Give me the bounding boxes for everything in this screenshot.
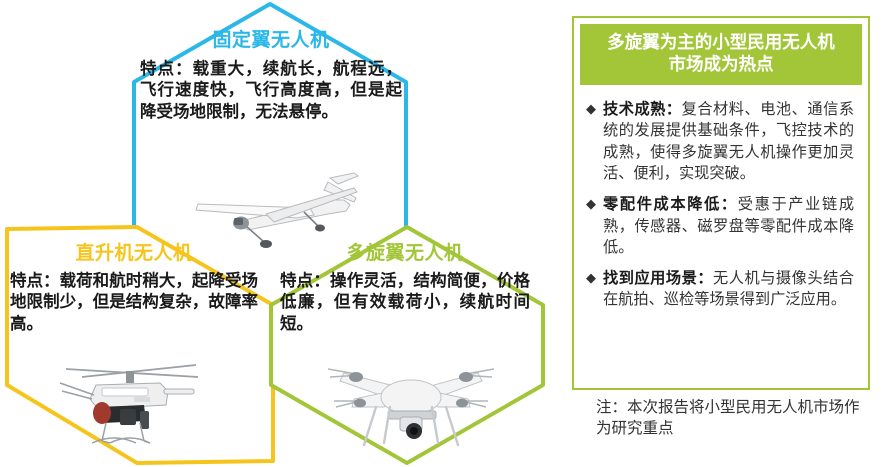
diamond-bullet-icon: ◆ xyxy=(586,194,603,213)
diamond-bullet-icon: ◆ xyxy=(586,268,603,287)
panel-header-line-1: 多旋翼为主的小型民用无人机 xyxy=(586,32,856,54)
market-highlight-panel: 多旋翼为主的小型民用无人机 市场成为热点 ◆ 技术成熟：复合材料、电池、通信系统… xyxy=(572,16,870,390)
hexagon-card-helicopter: 直升机无人机 特点：载荷和航时稍大，起降受场地限制少，但是结构复杂，故障率高。 xyxy=(10,243,258,335)
list-item: ◆ 零配件成本降低：受惠于产业链成熟，传感器、磁罗盘等零配件成本降低。 xyxy=(586,194,854,259)
hexagon-body-fixed-wing: 特点：载重大，续航长，航程远，飞行速度快，飞行高度高，但是起降受场地限制，无法悬… xyxy=(140,59,402,123)
hexagon-body-multirotor: 特点：操作灵活，结构简便，价格低廉，但有效载荷小，续航时间短。 xyxy=(280,271,530,335)
bullet-lead: 零配件成本降低： xyxy=(603,196,738,213)
diamond-bullet-icon: ◆ xyxy=(586,99,603,118)
bullet-lead: 找到应用场景： xyxy=(603,270,713,287)
panel-bullet-list: ◆ 技术成熟：复合材料、电池、通信系统的发展提供基础条件，飞控技术的成熟，使得多… xyxy=(574,85,868,311)
hexagon-title-helicopter: 直升机无人机 xyxy=(10,243,258,265)
hexagon-title-fixed-wing: 固定翼无人机 xyxy=(140,30,402,52)
hexagon-card-multirotor: 多旋翼无人机 特点：操作灵活，结构简便，价格低廉，但有效载荷小，续航时间短。 xyxy=(280,243,530,335)
hexagon-title-multirotor: 多旋翼无人机 xyxy=(280,243,530,265)
helicopter-drone-image xyxy=(48,355,213,450)
drone-type-hexagon-cluster: 固定翼无人机 特点：载重大，续航长，航程远，飞行速度快，飞行高度高，但是起降受场… xyxy=(0,0,560,467)
fixed-wing-drone-image xyxy=(178,160,378,250)
list-item: ◆ 找到应用场景：无人机与摄像头结合在航拍、巡检等场景得到广泛应用。 xyxy=(586,268,854,311)
panel-header-line-2: 市场成为热点 xyxy=(586,54,856,76)
bullet-text: 技术成熟：复合材料、电池、通信系统的发展提供基础条件，飞控技术的成熟，使得多旋翼… xyxy=(603,99,854,185)
bullet-text: 零配件成本降低：受惠于产业链成熟，传感器、磁罗盘等零配件成本降低。 xyxy=(603,194,854,259)
bullet-lead: 技术成熟： xyxy=(603,101,682,118)
hexagon-card-fixed-wing: 固定翼无人机 特点：载重大，续航长，航程远，飞行速度快，飞行高度高，但是起降受场… xyxy=(140,30,402,123)
hexagon-body-helicopter: 特点：载荷和航时稍大，起降受场地限制少，但是结构复杂，故障率高。 xyxy=(10,271,258,335)
multirotor-drone-image xyxy=(318,345,503,450)
list-item: ◆ 技术成熟：复合材料、电池、通信系统的发展提供基础条件，飞控技术的成熟，使得多… xyxy=(586,99,854,185)
panel-footnote: 注：本次报告将小型民用无人机市场作为研究重点 xyxy=(572,398,872,440)
panel-header: 多旋翼为主的小型民用无人机 市场成为热点 xyxy=(580,24,862,85)
bullet-text: 找到应用场景：无人机与摄像头结合在航拍、巡检等场景得到广泛应用。 xyxy=(603,268,854,311)
